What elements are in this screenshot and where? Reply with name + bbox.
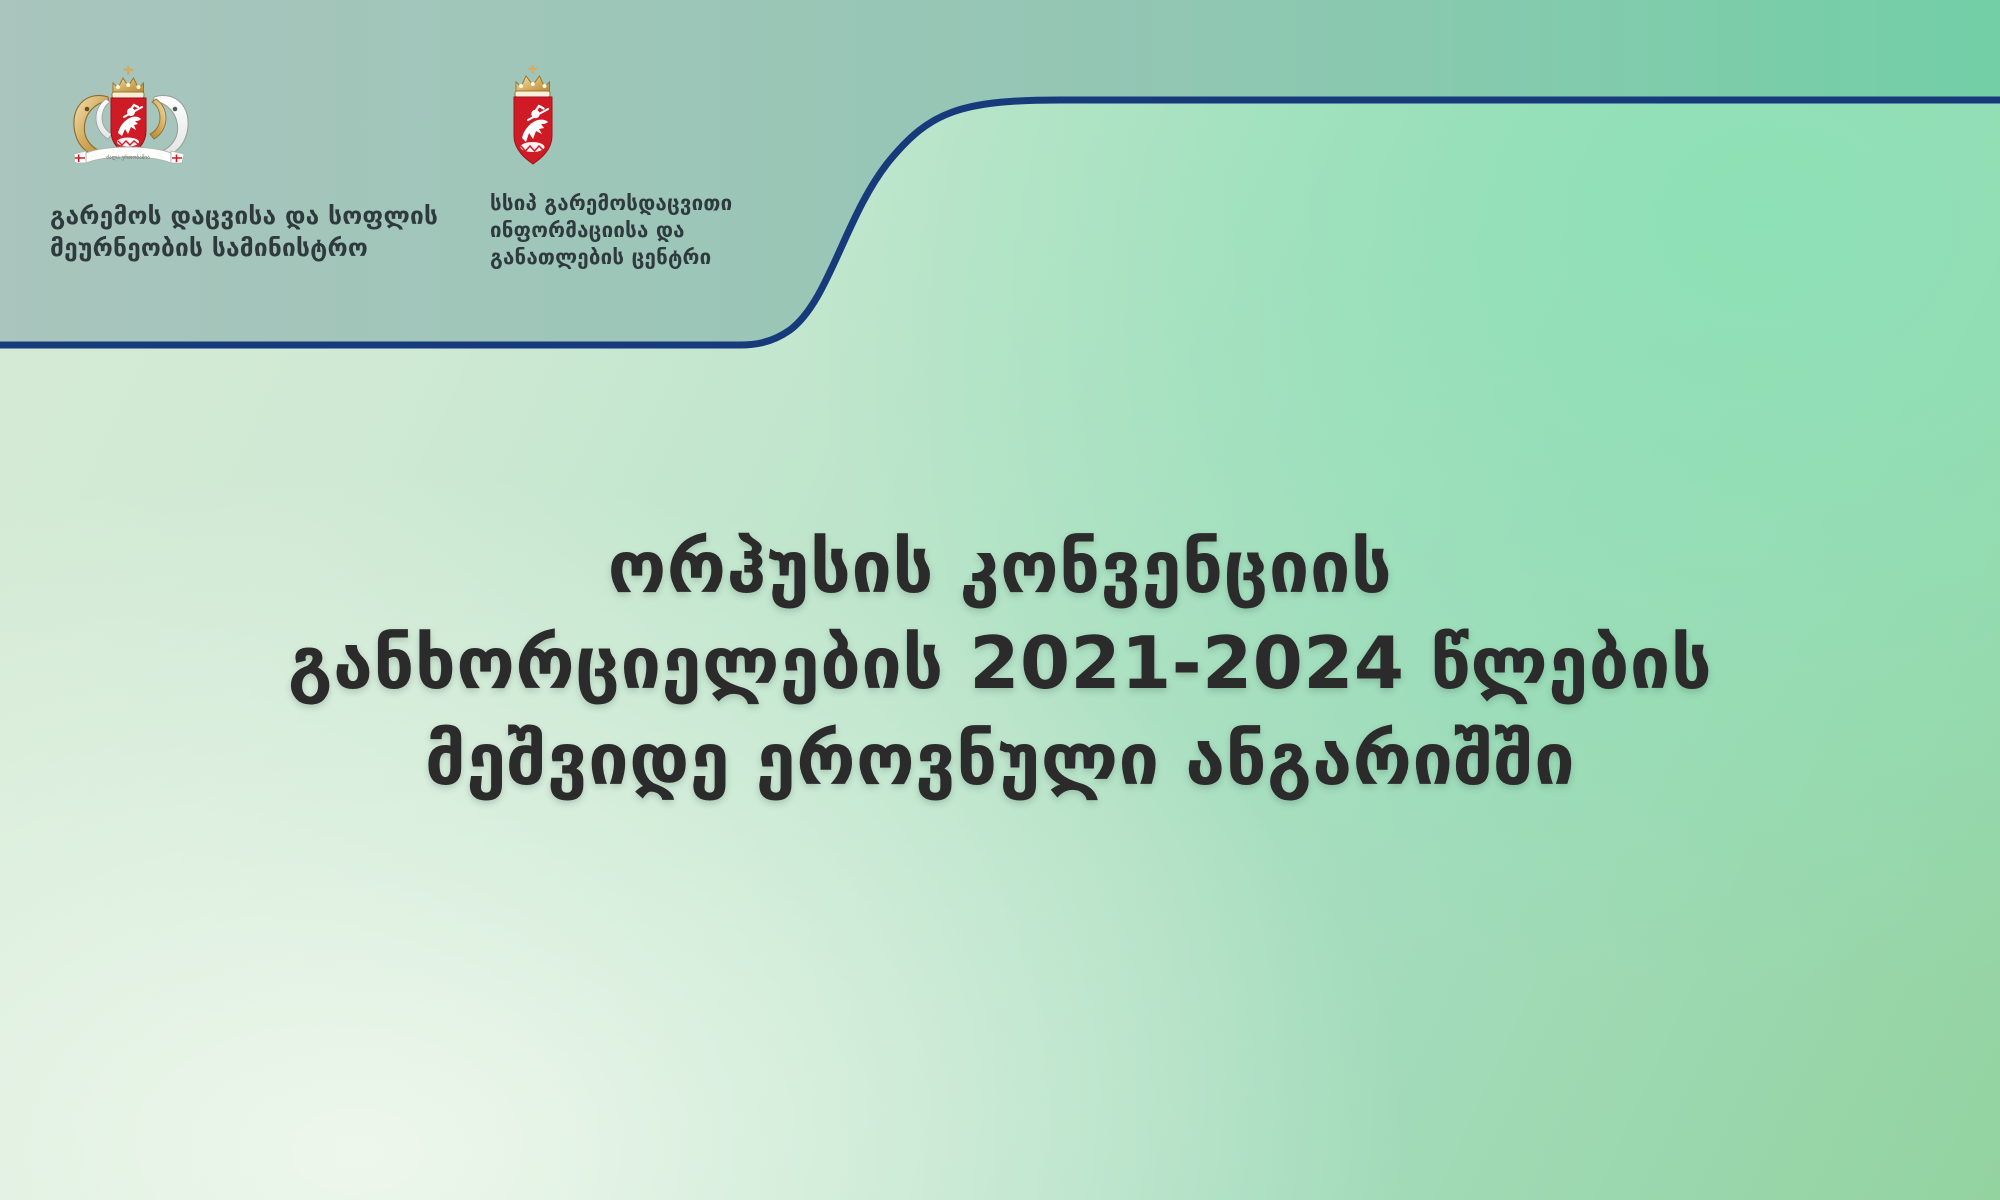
center-logo-line-1: სსიპ გარემოსდაცვითი <box>490 190 820 217</box>
center-logo-text: სსიპ გარემოსდაცვითი ინფორმაციისა და განა… <box>490 190 820 271</box>
center-logo-lockup: სსიპ გარემოსდაცვითი ინფორმაციისა და განა… <box>490 62 820 271</box>
shield-st-george <box>514 97 552 164</box>
title-line-2: განხორციელების 2021-2024 წლების <box>0 616 2000 712</box>
georgia-coat-of-arms-icon: ძალა ერთობაშია <box>56 55 450 184</box>
cover-page: ძალა ერთობაშია გარემოს დაცვისა და სოფლის… <box>0 0 2000 1200</box>
ministry-logo-lockup: ძალა ერთობაშია გარემოს დაცვისა და სოფლის… <box>50 55 450 264</box>
title-line-1: ორჰუსის კონვენციის <box>0 520 2000 616</box>
lion-supporter-right <box>150 95 188 156</box>
center-logo-line-2: ინფორმაციისა და <box>490 217 820 244</box>
ministry-logo-line-1: გარემოს დაცვისა და სოფლის <box>50 200 450 232</box>
crown-icon <box>515 65 550 97</box>
lion-supporter-left <box>74 95 112 156</box>
crown-icon <box>112 66 144 98</box>
svg-text:ძალა ერთობაშია: ძალა ერთობაშია <box>106 154 150 161</box>
georgia-small-coat-of-arms-icon <box>502 62 820 174</box>
title-line-3: მეშვიდე ეროვნული ანგარიშში <box>0 712 2000 808</box>
page-title: ორჰუსის კონვენციის განხორციელების 2021-2… <box>0 520 2000 807</box>
ministry-logo-text: გარემოს დაცვისა და სოფლის მეურნეობის სამ… <box>50 200 450 264</box>
center-logo-line-3: განათლების ცენტრი <box>490 244 820 271</box>
ministry-logo-line-2: მეურნეობის სამინისტრო <box>50 232 450 264</box>
